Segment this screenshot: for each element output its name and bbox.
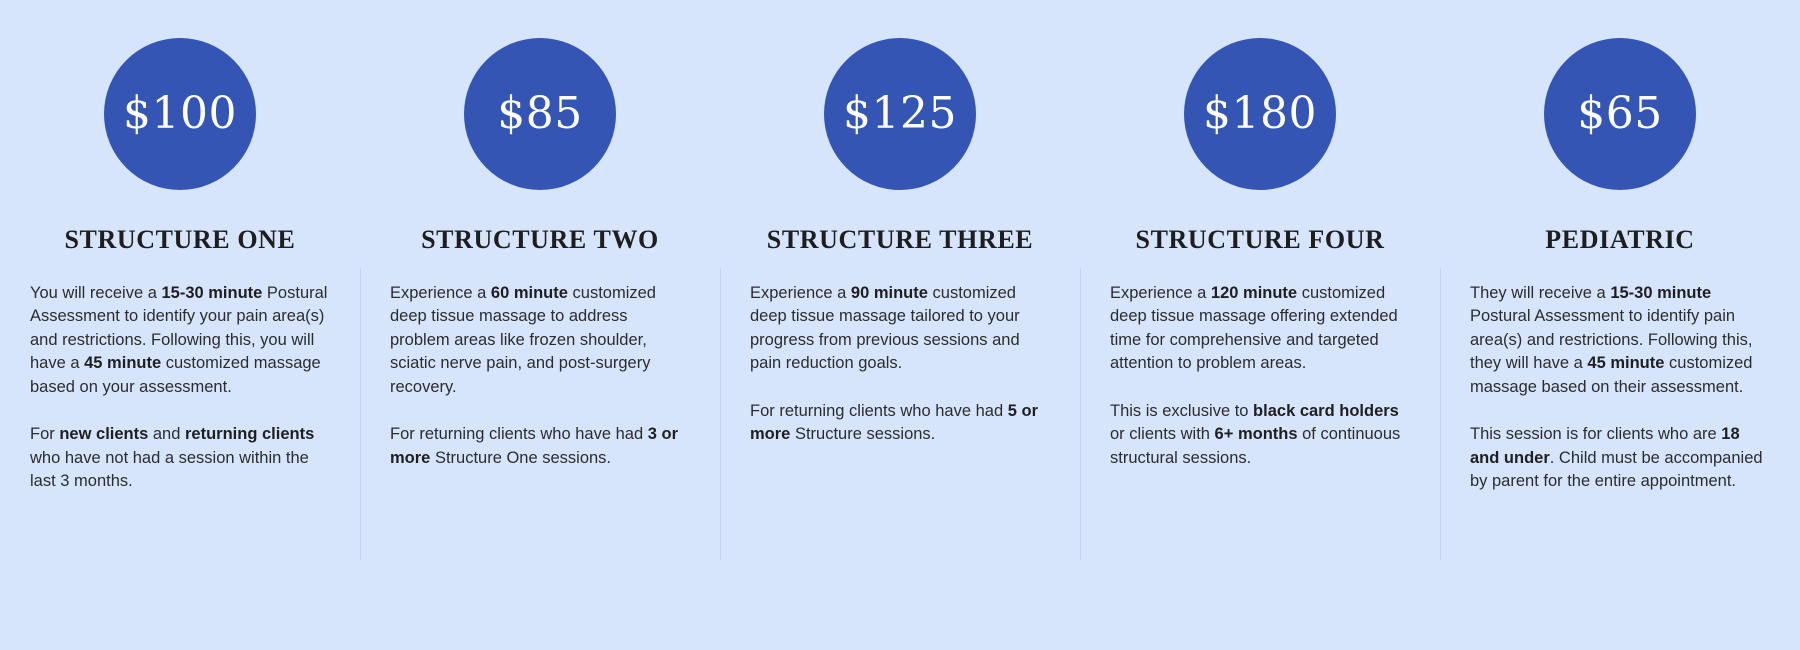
pricing-column-structure-one: $100 STRUCTURE ONE You will receive a 15… [0,0,360,650]
description-paragraph: Experience a 120 minute customized deep … [1110,282,1410,376]
tier-description: You will receive a 15-30 minute Postural… [30,282,330,494]
tier-title: PEDIATRIC [1440,226,1800,255]
pricing-column-structure-two: $85 STRUCTURE TWO Experience a 60 minute… [360,0,720,650]
description-paragraph: They will receive a 15-30 minute Postura… [1470,282,1770,400]
price-badge: $85 [464,38,616,190]
tier-description: They will receive a 15-30 minute Postura… [1470,282,1770,494]
column-divider [360,268,361,560]
description-paragraph: For new clients and returning clients wh… [30,423,330,494]
description-paragraph: Experience a 60 minute customized deep t… [390,282,690,400]
tier-title: STRUCTURE FOUR [1080,226,1440,255]
price-badge: $125 [824,38,976,190]
pricing-tiers-board: $100 STRUCTURE ONE You will receive a 15… [0,0,1800,650]
pricing-column-pediatric: $65 PEDIATRIC They will receive a 15-30 … [1440,0,1800,650]
tier-title: STRUCTURE THREE [720,226,1080,255]
description-paragraph: For returning clients who have had 3 or … [390,423,690,470]
description-paragraph: You will receive a 15-30 minute Postural… [30,282,330,400]
description-paragraph: This session is for clients who are 18 a… [1470,423,1770,494]
tier-description: Experience a 90 minute customized deep t… [750,282,1050,447]
column-divider [1440,268,1441,560]
price-amount: $125 [843,92,957,136]
pricing-column-structure-three: $125 STRUCTURE THREE Experience a 90 min… [720,0,1080,650]
price-amount: $100 [123,92,237,136]
tier-title: STRUCTURE TWO [360,226,720,255]
emphasis-text: 90 minute [851,284,928,302]
tier-description: Experience a 60 minute customized deep t… [390,282,690,471]
tier-description: Experience a 120 minute customized deep … [1110,282,1410,471]
tier-title: STRUCTURE ONE [0,226,360,255]
emphasis-text: 60 minute [491,284,568,302]
emphasis-text: 15-30 minute [1610,284,1711,302]
description-paragraph: For returning clients who have had 5 or … [750,400,1050,447]
description-paragraph: This is exclusive to black card holders … [1110,400,1410,471]
column-divider [720,268,721,560]
price-badge: $180 [1184,38,1336,190]
price-badge: $100 [104,38,256,190]
price-amount: $180 [1203,92,1317,136]
emphasis-text: new clients [59,425,148,443]
emphasis-text: 45 minute [1587,354,1664,372]
emphasis-text: 120 minute [1211,284,1297,302]
emphasis-text: 45 minute [84,354,161,372]
emphasis-text: black card holders [1253,402,1399,420]
price-badge: $65 [1544,38,1696,190]
price-amount: $85 [497,92,582,136]
emphasis-text: 15-30 minute [161,284,262,302]
price-amount: $65 [1577,92,1662,136]
description-paragraph: Experience a 90 minute customized deep t… [750,282,1050,376]
emphasis-text: returning clients [185,425,314,443]
emphasis-text: 6+ months [1215,425,1298,443]
pricing-column-structure-four: $180 STRUCTURE FOUR Experience a 120 min… [1080,0,1440,650]
column-divider [1080,268,1081,560]
